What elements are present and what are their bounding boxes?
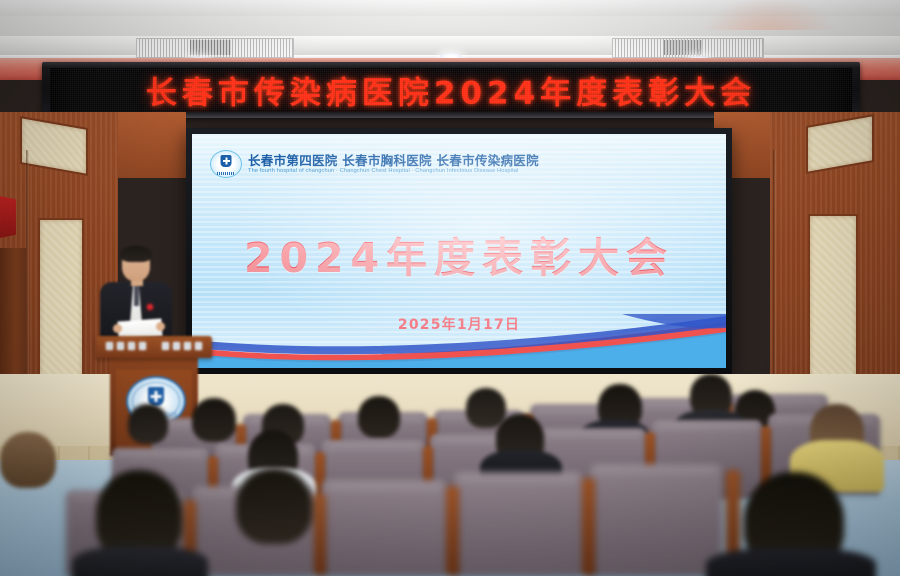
led-banner-text: 长春市传染病医院2024年度表彰大会 bbox=[50, 68, 852, 112]
ceiling-light-cone bbox=[698, 0, 842, 30]
slide-wave-decoration bbox=[192, 314, 726, 368]
conference-hall-photo: 长春市传染病医院2024年度表彰大会 长春市第四医院 长春市胸科医院 长春市传染… bbox=[0, 0, 900, 576]
air-vent-grille bbox=[612, 38, 764, 58]
slide-header-chinese: 长春市第四医院 长春市胸科医院 长春市传染病医院 bbox=[248, 154, 539, 167]
podium-plaque bbox=[104, 341, 204, 351]
slide-header: 长春市第四医院 长春市胸科医院 长春市传染病医院 The fourth hosp… bbox=[210, 150, 539, 178]
speaker-person bbox=[100, 248, 172, 340]
red-wall-banner bbox=[0, 196, 16, 238]
slide-header-english: The fourth hospital of changchun · Chang… bbox=[248, 169, 539, 175]
led-banner: 长春市传染病医院2024年度表彰大会 bbox=[42, 62, 860, 118]
hospital-shield-logo-icon bbox=[210, 150, 242, 178]
slide-title: 2024年度表彰大会 bbox=[192, 224, 726, 284]
projection-screen: 长春市第四医院 长春市胸科医院 长春市传染病医院 The fourth hosp… bbox=[186, 128, 732, 374]
lapel-pin bbox=[147, 304, 153, 310]
air-vent-grille bbox=[136, 38, 294, 58]
slide-surface: 长春市第四医院 长春市胸科医院 长春市传染病医院 The fourth hosp… bbox=[192, 134, 726, 368]
led-banner-screen: 长春市传染病医院2024年度表彰大会 bbox=[50, 68, 852, 112]
